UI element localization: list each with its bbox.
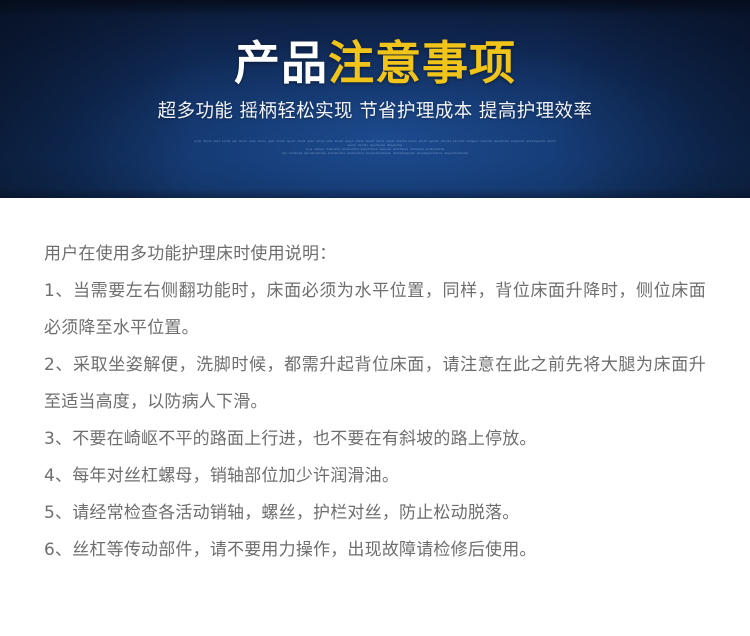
banner-bottom-shadow <box>0 188 750 198</box>
product-notice-page: wjhe dkjah qwed ajsdh wqe dnahs qweu dka… <box>0 0 750 636</box>
instruction-item-1: 1、当需要左右侧翻功能时，床面必须为水平位置，同样，背位床面升降时，侧位床面必须… <box>44 273 706 347</box>
instructions-intro: 用户在使用多功能护理床时使用说明： <box>44 236 706 273</box>
instructions-section: 用户在使用多功能护理床时使用说明： 1、当需要左右侧翻功能时，床面必须为水平位置… <box>0 198 750 569</box>
instruction-item-4: 4、每年对丝杠螺母，销轴部位加少许润滑油。 <box>44 458 706 495</box>
page-title: 产品注意事项 <box>0 0 750 92</box>
instruction-item-5: 5、请经常检查各活动销轴，螺丝，护栏对丝，防止松动脱落。 <box>44 495 706 532</box>
instruction-item-2: 2、采取坐姿解便，洗脚时候，都需升起背位床面，请注意在此之前先将大腿为床面升至适… <box>44 347 706 421</box>
page-subtitle: 超多功能 摇柄轻松实现 节省护理成本 提高护理效率 <box>0 92 750 126</box>
hero-banner: wjhe dkjah qwed ajsdh wqe dnahs qweu dka… <box>0 0 750 198</box>
instruction-item-3: 3、不要在崎岖不平的路面上行进，也不要在有斜坡的路上停放。 <box>44 421 706 458</box>
banner-content: 产品注意事项 超多功能 摇柄轻松实现 节省护理成本 提高护理效率 <box>0 0 750 126</box>
instruction-item-6: 6、丝杠等传动部件，请不要用力操作，出现故障请检修后使用。 <box>44 532 706 569</box>
page-title-accent: 注意事项 <box>328 36 516 90</box>
page-title-primary: 产品 <box>234 36 328 90</box>
